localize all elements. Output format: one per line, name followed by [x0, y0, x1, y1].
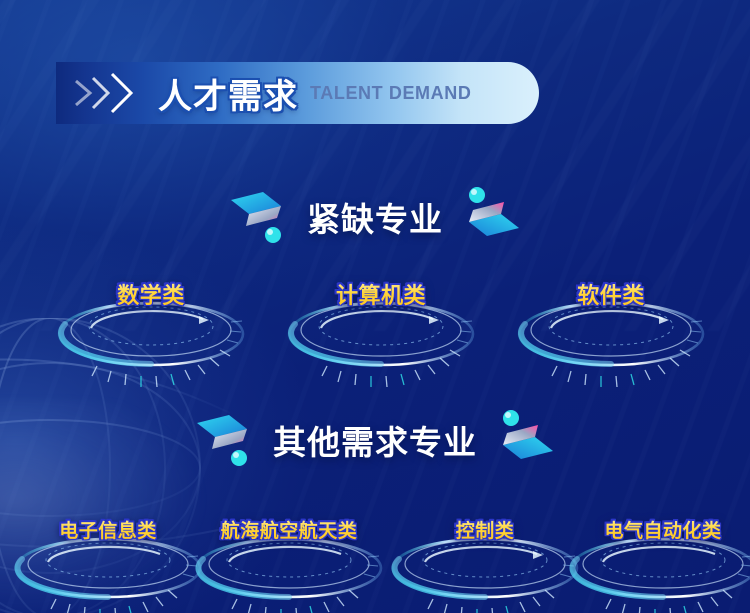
double-chevron-right-icon: [72, 72, 148, 114]
major-disc-item[interactable]: 软件类: [511, 272, 711, 382]
section-title: 紧缺专业: [307, 193, 443, 241]
section-heading-shortage: 紧缺专业: [219, 182, 531, 252]
major-label: 控制类: [385, 516, 585, 543]
major-disc-item[interactable]: 计算机类: [281, 272, 481, 382]
major-label: 数学类: [51, 278, 251, 310]
major-disc-item[interactable]: 数学类: [51, 272, 251, 382]
major-disc-item[interactable]: 电子信息类: [8, 510, 208, 613]
section-title: 其他需求专业: [273, 416, 477, 464]
major-disc-item[interactable]: 航海航空航天类: [184, 510, 394, 613]
major-label: 软件类: [511, 278, 711, 310]
page-title-banner: 人才需求 TALENT DEMAND: [56, 62, 539, 124]
banner-title: 人才需求: [158, 69, 298, 118]
major-label: 计算机类: [281, 278, 481, 310]
section-heading-other: 其他需求专业: [196, 405, 554, 475]
major-label: 电气自动化类: [558, 516, 750, 543]
major-label: 航海航空航天类: [184, 516, 394, 543]
major-disc-item[interactable]: 控制类: [385, 510, 585, 613]
major-label: 电子信息类: [8, 516, 208, 543]
infographic-poster: 人才需求 TALENT DEMAND 紧缺: [0, 0, 750, 613]
parallelogram-decor-icon: [457, 184, 521, 251]
parallelogram-decor-icon: [195, 407, 259, 474]
parallelogram-decor-icon: [491, 407, 555, 474]
banner-subtitle: TALENT DEMAND: [310, 83, 471, 104]
major-disc-item[interactable]: 电气自动化类: [558, 510, 750, 613]
parallelogram-decor-icon: [229, 184, 293, 251]
